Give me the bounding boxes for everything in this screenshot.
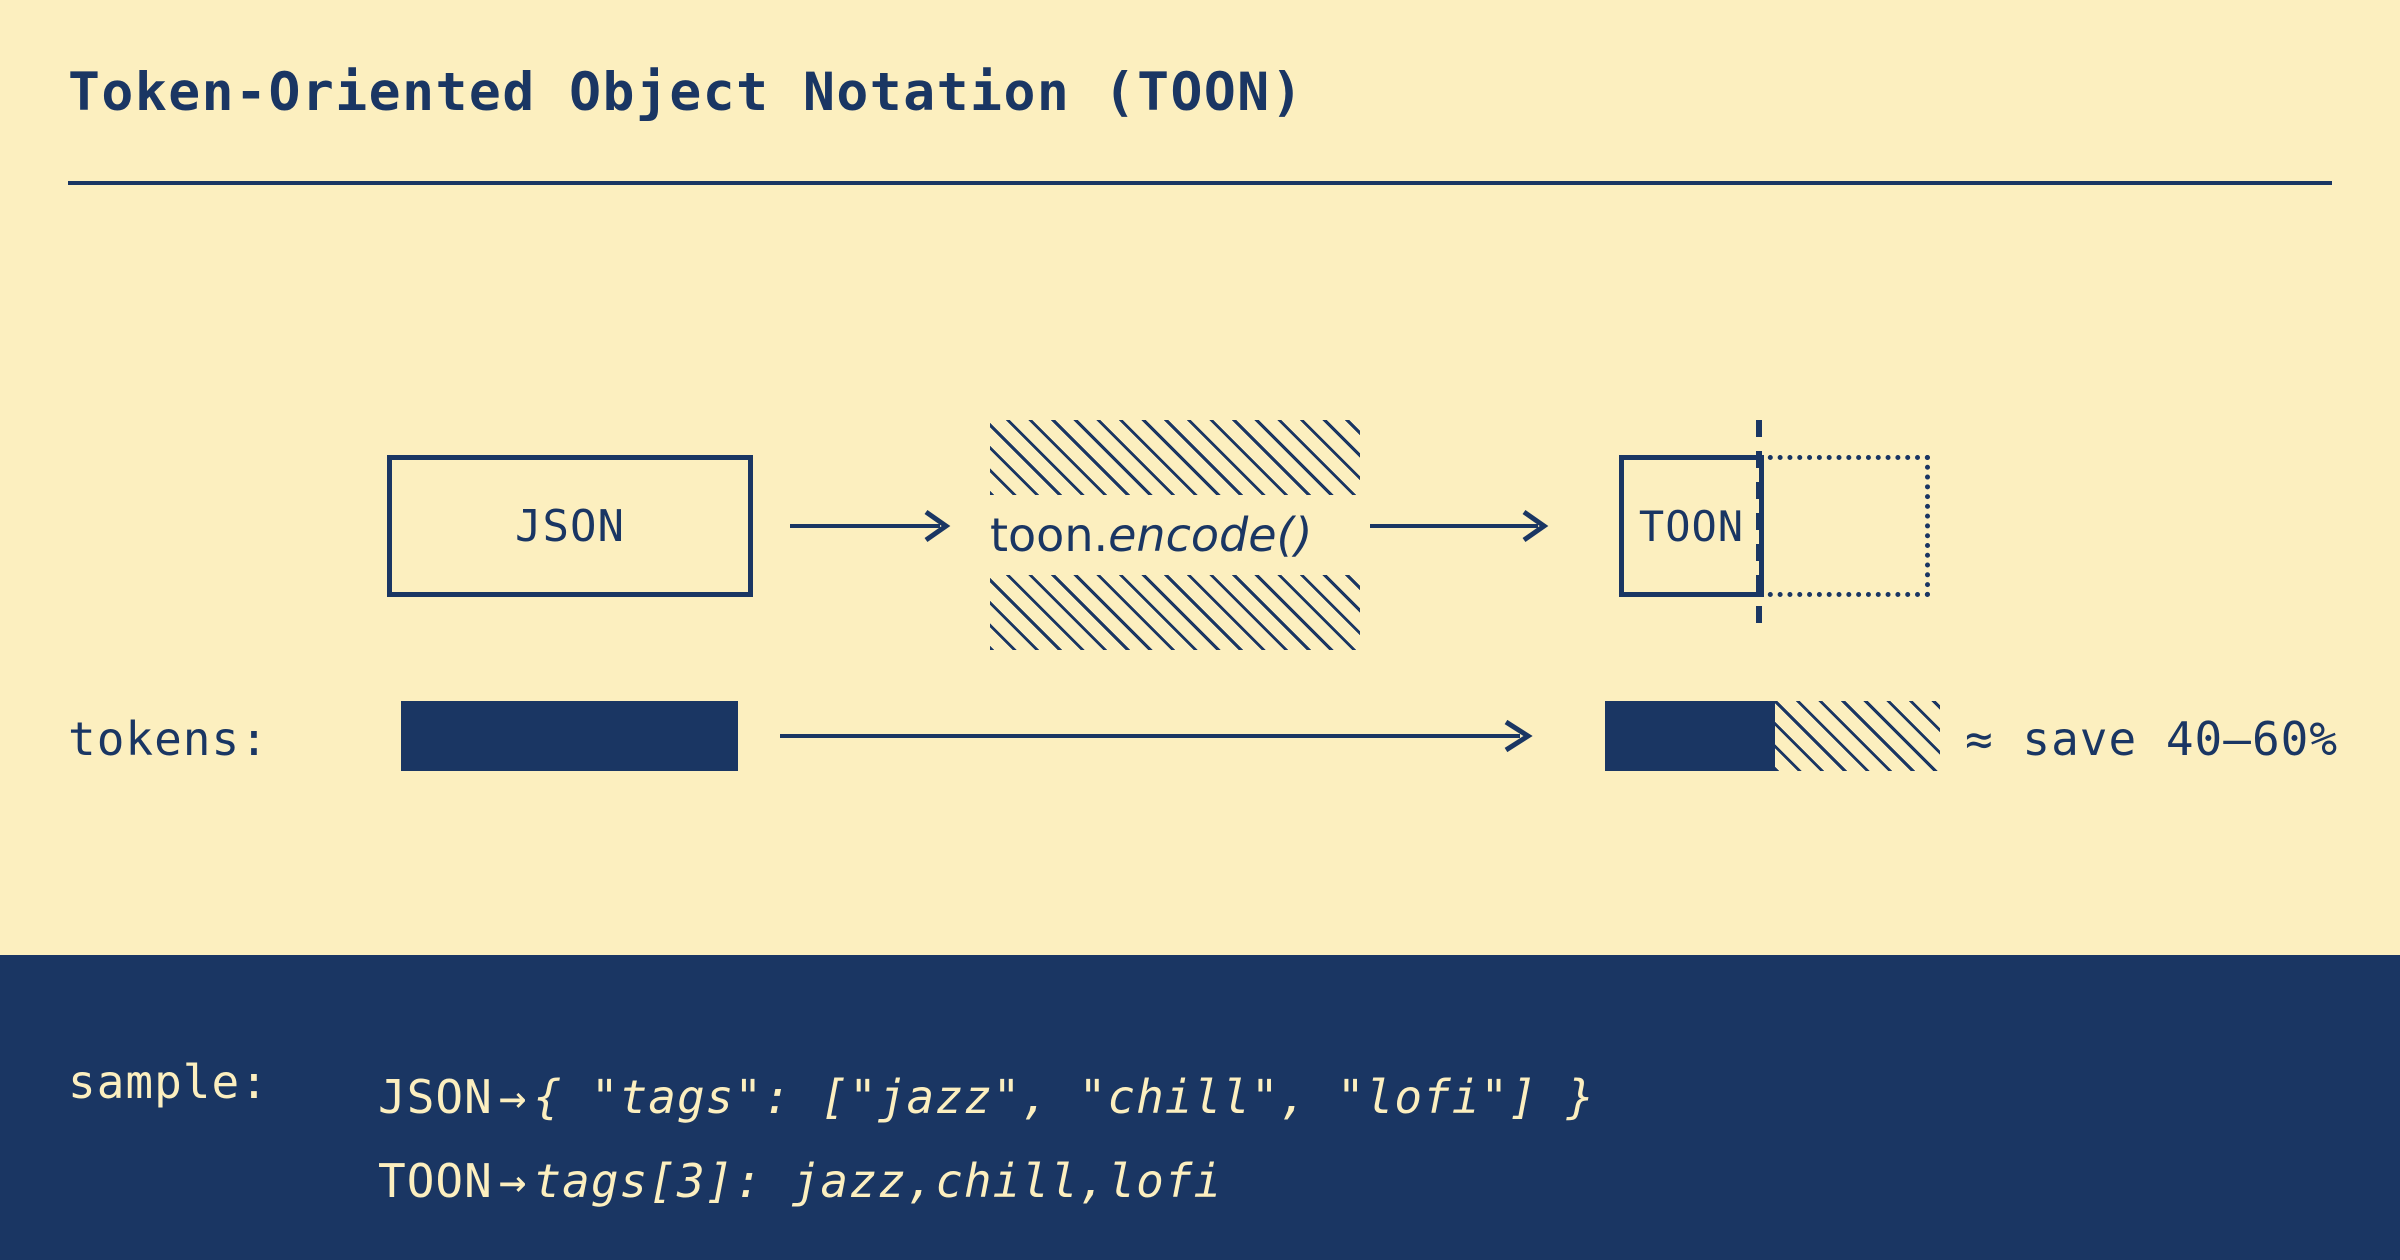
hatch-pattern-top [990,420,1360,495]
encode-process-label: toon.encode() [990,495,1360,575]
sample-rows: JSON→{ "tags": ["jazz", "chill", "lofi"]… [378,1055,1595,1223]
sample-row-json: JSON→{ "tags": ["jazz", "chill", "lofi"]… [378,1055,1595,1139]
toon-savings-placeholder-box [1758,455,1930,597]
page-title: Token-Oriented Object Notation (TOON) [68,62,1304,123]
tokens-bar-json [401,701,738,771]
sample-row-toon: TOON→tags[3]: jazz,chill,lofi [378,1139,1595,1223]
tokens-bar-toon-saved [1775,701,1940,771]
arrow-right-glyph-toon: → [493,1154,534,1208]
sample-panel: sample: JSON→{ "tags": ["jazz", "chill",… [0,955,2400,1260]
title-divider [68,181,2332,185]
encode-namespace-text: toon. [990,508,1108,562]
arrow-right-icon-output [1370,506,1560,546]
sample-panel-label: sample: [68,1055,269,1109]
sample-row-json-format: JSON [378,1070,493,1124]
flow-diagram: JSON toon.encode() TOON [0,420,2400,650]
sample-row-toon-format: TOON [378,1154,493,1208]
toon-output-box: TOON [1619,455,1764,597]
tokens-bar-toon-used [1605,701,1775,771]
encode-method-text: encode() [1108,508,1312,562]
hatch-pattern-bottom [990,575,1360,650]
arrow-right-glyph-json: → [493,1070,534,1124]
slide-canvas: Token-Oriented Object Notation (TOON) JS… [0,0,2400,1260]
savings-annotation: ≈ save 40–60% [1965,712,2338,766]
json-source-box: JSON [387,455,753,597]
encode-process-block: toon.encode() [990,420,1360,650]
json-source-box-label: JSON [515,501,625,552]
toon-box-dashed-divider [1756,420,1762,632]
sample-row-toon-code: tags[3]: jazz,chill,lofi [533,1154,1222,1208]
arrow-right-icon-encode [790,506,960,546]
toon-output-group: TOON [1619,455,1930,597]
toon-output-box-label: TOON [1639,502,1744,551]
tokens-row-label: tokens: [68,712,269,766]
sample-row-json-code: { "tags": ["jazz", "chill", "lofi"] } [533,1070,1595,1124]
arrow-right-icon-tokens [780,716,1550,756]
